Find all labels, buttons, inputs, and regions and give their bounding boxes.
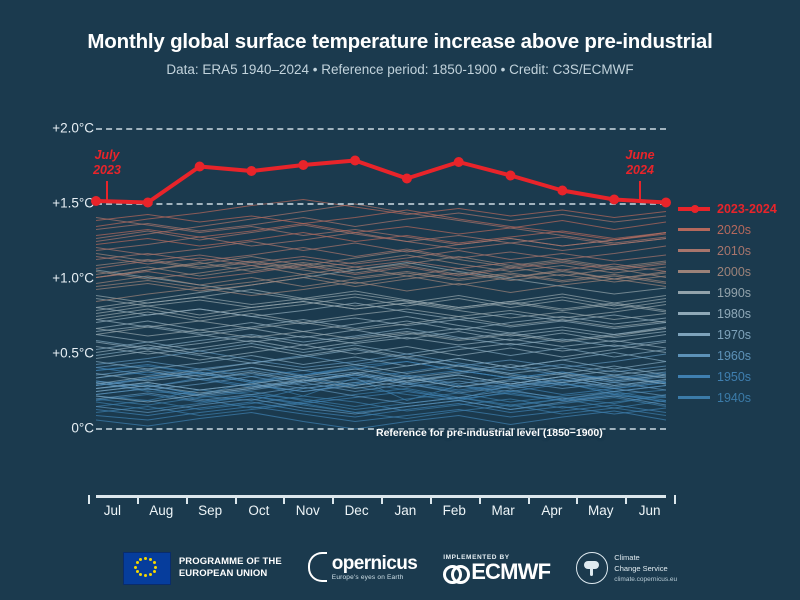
legend-item-label: 1950s <box>717 370 751 384</box>
eu-star-icon <box>154 566 157 569</box>
x-axis-label: Jun <box>620 503 680 518</box>
eu-star-icon <box>149 558 152 561</box>
legend-swatch <box>678 266 710 278</box>
c3s-thermometer-icon <box>576 552 608 584</box>
ecmwf-logo: IMPLEMENTED BY ECMWF <box>443 554 550 583</box>
c3s-name: Climate Change Service <box>614 553 677 573</box>
eu-star-icon <box>149 573 152 576</box>
copernicus-wordmark: opernicus <box>332 555 417 573</box>
annotation-right-leader <box>639 181 641 203</box>
copernicus-arc-icon <box>308 552 327 582</box>
eu-text-line1: PROGRAMME OF THE <box>179 556 282 567</box>
data-point-marker <box>454 157 464 167</box>
legend-item-label: 1940s <box>717 391 751 405</box>
y-axis-label: +1.0°C <box>52 270 94 285</box>
eu-text-line2: EUROPEAN UNION <box>179 568 268 579</box>
data-point-marker <box>246 166 256 176</box>
data-point-marker <box>298 160 308 170</box>
legend-item-label: 2020s <box>717 223 751 237</box>
c3s-line1: Climate <box>614 553 639 562</box>
legend-item-label: 2000s <box>717 265 751 279</box>
climate-chart: Monthly global surface temperature incre… <box>0 0 800 600</box>
legend-item-1980s[interactable]: 1980s <box>678 303 796 324</box>
legend-swatch <box>678 371 710 383</box>
footer-logos: PROGRAMME OF THE EUROPEAN UNION opernicu… <box>0 543 800 593</box>
data-point-marker <box>350 156 360 166</box>
legend-item-2023-2024[interactable]: 2023-2024 <box>678 198 796 219</box>
legend-item-2010s[interactable]: 2010s <box>678 240 796 261</box>
legend-item-2020s[interactable]: 2020s <box>678 219 796 240</box>
legend-swatch <box>678 350 710 362</box>
legend-item-1990s[interactable]: 1990s <box>678 282 796 303</box>
legend-item-label: 1990s <box>717 286 751 300</box>
highlight-line <box>96 161 666 203</box>
legend-item-1970s[interactable]: 1970s <box>678 324 796 345</box>
eu-star-icon <box>144 557 147 560</box>
legend-item-2000s[interactable]: 2000s <box>678 261 796 282</box>
legend: 2023-20242020s2010s2000s1990s1980s1970s1… <box>678 198 796 408</box>
legend-item-label: 1970s <box>717 328 751 342</box>
annotation-right-line1: June <box>625 148 654 162</box>
legend-item-label: 1980s <box>717 307 751 321</box>
legend-item-label: 1960s <box>717 349 751 363</box>
eu-star-icon <box>136 570 139 573</box>
eu-star-icon <box>134 566 137 569</box>
page-subtitle: Data: ERA5 1940–2024 • Reference period:… <box>0 62 800 77</box>
y-axis-label: +0.5°C <box>52 345 94 360</box>
eu-star-icon <box>136 561 139 564</box>
data-point-marker <box>402 174 412 184</box>
legend-swatch <box>678 308 710 320</box>
y-axis-label: +2.0°C <box>52 120 94 135</box>
legend-item-label: 2010s <box>717 244 751 258</box>
highlight-series-2023-2024 <box>96 120 666 450</box>
copernicus-tagline: Europe's eyes on Earth <box>332 574 417 581</box>
page-title: Monthly global surface temperature incre… <box>0 30 800 54</box>
plot-area <box>96 120 666 450</box>
annotation-left-line1: July <box>94 148 119 162</box>
c3s-logo: Climate Change Service climate.copernicu… <box>576 552 677 584</box>
annotation-left-leader <box>106 181 108 203</box>
c3s-line2: Change Service <box>614 564 667 573</box>
copernicus-logo: opernicus Europe's eyes on Earth <box>308 552 417 585</box>
annotation-june-2024: June 2024 <box>612 148 668 203</box>
legend-swatch <box>678 224 710 236</box>
legend-swatch <box>678 329 710 341</box>
reference-level-note: Reference for pre-industrial level (1850… <box>376 427 603 439</box>
eu-star-icon <box>153 570 156 573</box>
y-axis-label: 0°C <box>71 420 94 435</box>
eu-star-icon <box>153 561 156 564</box>
eu-flag-icon <box>123 552 171 585</box>
eu-star-icon <box>144 574 147 577</box>
data-point-marker <box>557 186 567 196</box>
ecmwf-wordmark: ECMWF <box>471 561 550 583</box>
legend-swatch <box>678 203 710 215</box>
ecmwf-rings-icon <box>443 564 467 580</box>
legend-item-1940s[interactable]: 1940s <box>678 387 796 408</box>
legend-swatch <box>678 245 710 257</box>
eu-logo-text: PROGRAMME OF THE EUROPEAN UNION <box>179 556 282 580</box>
legend-swatch <box>678 287 710 299</box>
c3s-url: climate.copernicus.eu <box>614 576 677 583</box>
legend-swatch <box>678 392 710 404</box>
annotation-left-line2: 2023 <box>93 163 121 177</box>
data-point-marker <box>506 171 516 181</box>
annotation-right-line2: 2024 <box>626 163 654 177</box>
eu-star-icon <box>139 573 142 576</box>
legend-item-label: 2023-2024 <box>717 202 777 216</box>
eu-logo: PROGRAMME OF THE EUROPEAN UNION <box>123 552 282 585</box>
legend-item-1960s[interactable]: 1960s <box>678 345 796 366</box>
data-point-marker <box>143 198 153 208</box>
legend-item-1950s[interactable]: 1950s <box>678 366 796 387</box>
eu-star-icon <box>139 558 142 561</box>
annotation-july-2023: July 2023 <box>79 148 135 203</box>
data-point-marker <box>195 162 205 172</box>
